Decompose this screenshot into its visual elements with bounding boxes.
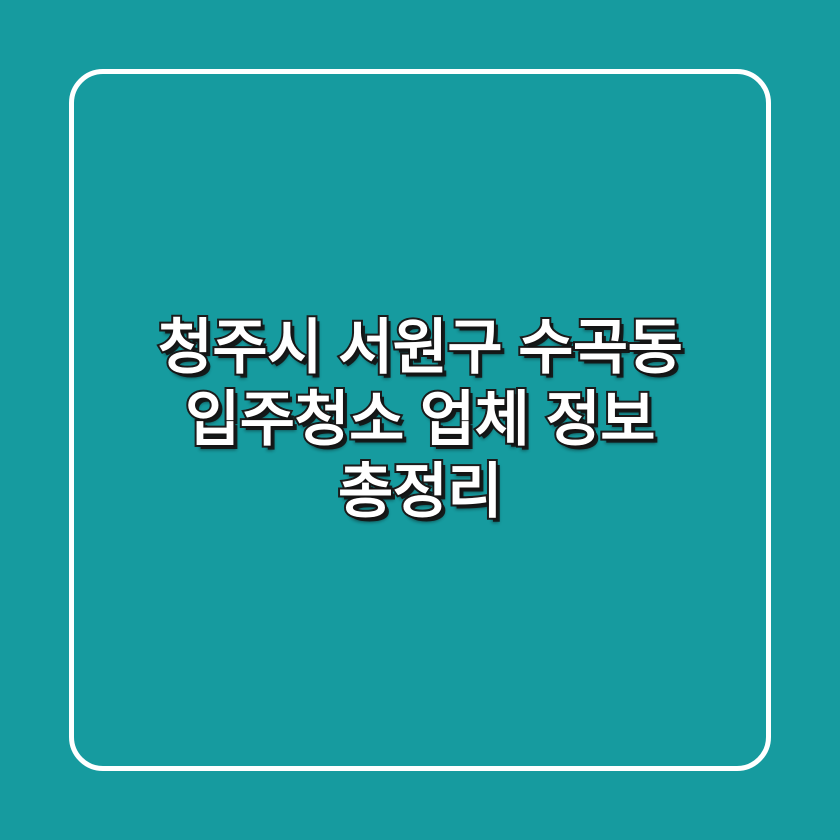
- headline-line-2: 입주청소 업체 정보: [86, 384, 754, 456]
- thumbnail-card: 청주시 서원구 수곡동 입주청소 업체 정보 총정리: [0, 0, 840, 840]
- headline-line-1: 청주시 서원구 수곡동: [86, 312, 754, 384]
- headline-block: 청주시 서원구 수곡동 입주청소 업체 정보 총정리: [0, 0, 840, 840]
- headline-line-3: 총정리: [86, 456, 754, 528]
